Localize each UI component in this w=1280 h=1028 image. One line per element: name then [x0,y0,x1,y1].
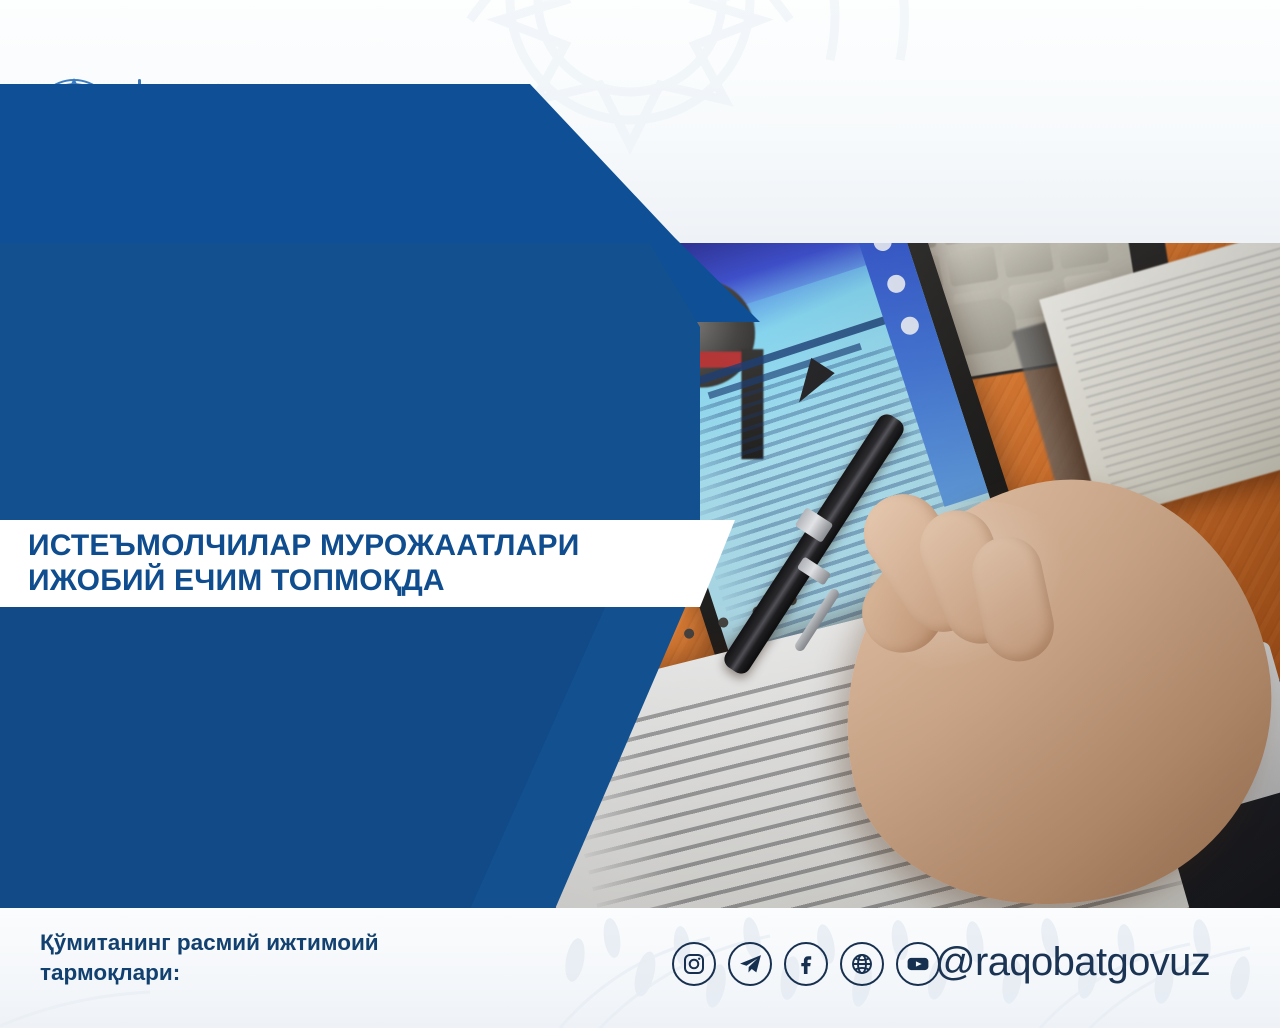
social-links[interactable] [672,942,940,986]
social-handle[interactable]: @raqobatgovuz [935,940,1210,985]
headline-text: ИСТЕЪМОЛЧИЛАР МУРОЖААТЛАРИ ИЖОБИЙ ЕЧИМ Т… [0,529,579,597]
telegram-icon[interactable] [728,942,772,986]
headline-band: ИСТЕЪМОЛЧИЛАР МУРОЖААТЛАРИ ИЖОБИЙ ЕЧИМ Т… [0,520,740,607]
instagram-icon[interactable] [672,942,716,986]
website-icon[interactable] [840,942,884,986]
facebook-icon[interactable] [784,942,828,986]
footer-label: Қўмитанинг расмий ижтимоий тармоқлари: [40,928,379,988]
youtube-icon[interactable] [896,942,940,986]
social-media-poster: Рақобатни ривожлантириш ва истеъмолчилар… [0,0,1280,1028]
